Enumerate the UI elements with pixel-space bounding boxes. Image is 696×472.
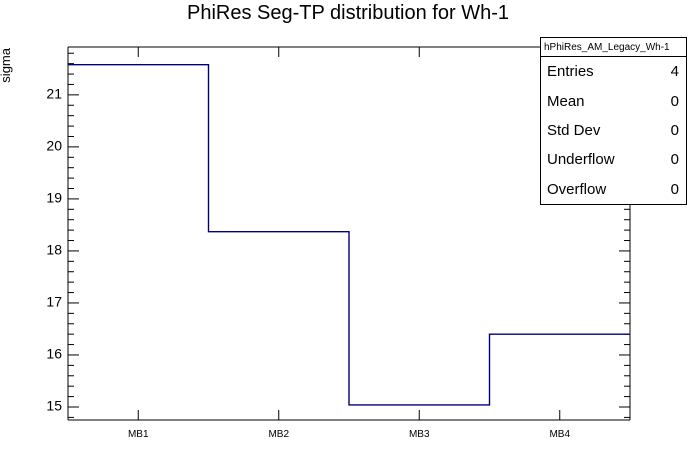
- root-canvas: PhiRes Seg-TP distribution for Wh-1 sigm…: [0, 0, 696, 472]
- stats-row-label: Underflow: [547, 151, 615, 168]
- stats-row-value: 0: [671, 151, 679, 168]
- y-tick-label: 15: [46, 398, 62, 414]
- stats-row-value: 0: [671, 93, 679, 110]
- y-tick-label: 20: [46, 138, 62, 154]
- x-tick-label: MB2: [268, 429, 289, 440]
- stats-row-label: Mean: [547, 93, 585, 110]
- stats-row-label: Std Dev: [547, 122, 600, 139]
- x-tick-label: MB4: [549, 429, 570, 440]
- x-tick-label: MB1: [128, 429, 149, 440]
- stats-box-rows: Entries4Mean0Std Dev0Underflow0Overflow0: [541, 57, 686, 204]
- y-tick-label: 19: [46, 190, 62, 206]
- y-tick-label: 21: [46, 86, 62, 102]
- stats-row: Overflow0: [541, 175, 686, 204]
- stats-row: Entries4: [541, 57, 686, 86]
- stats-row: Mean0: [541, 86, 686, 115]
- y-tick-label: 16: [46, 346, 62, 362]
- stats-row: Underflow0: [541, 145, 686, 174]
- x-tick-label: MB3: [409, 429, 430, 440]
- stats-row-value: 4: [671, 63, 679, 80]
- y-tick-label: 18: [46, 242, 62, 258]
- stats-row-value: 0: [671, 181, 679, 198]
- stats-row-label: Entries: [547, 63, 594, 80]
- stats-row-label: Overflow: [547, 181, 606, 198]
- stats-row: Std Dev0: [541, 116, 686, 145]
- stats-box[interactable]: hPhiRes_AM_Legacy_Wh-1 Entries4Mean0Std …: [540, 37, 687, 205]
- stats-row-value: 0: [671, 122, 679, 139]
- stats-box-title: hPhiRes_AM_Legacy_Wh-1: [541, 38, 686, 57]
- y-tick-label: 17: [46, 294, 62, 310]
